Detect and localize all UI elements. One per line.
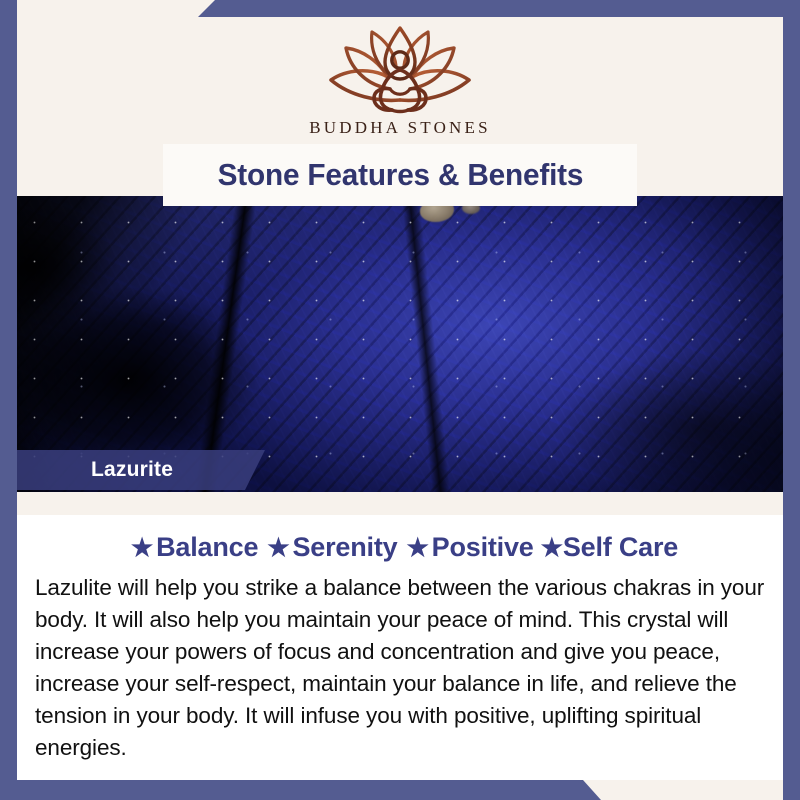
page-title-plaque: Stone Features & Benefits: [163, 144, 637, 206]
stone-photo: [0, 196, 800, 492]
frame-band-bottom: [0, 780, 800, 800]
feature-keyword-list: ★Balance★Serenity★Positive★Self Care: [17, 532, 783, 563]
feature-keyword-positive: Positive: [432, 532, 534, 563]
brand-name: BUDDHA STONES: [0, 118, 800, 138]
feature-keyword-balance: Balance: [156, 532, 258, 563]
star-icon-3: ★: [397, 534, 431, 562]
frame-band-right: [783, 0, 800, 800]
star-icon-4: ★: [534, 534, 563, 562]
stone-description: Lazulite will help you strike a balance …: [35, 572, 765, 764]
feature-keyword-serenity: Serenity: [293, 532, 398, 563]
brand-logo: BUDDHA STONES: [0, 22, 800, 138]
star-icon-1: ★: [122, 534, 156, 562]
star-icon-2: ★: [258, 534, 292, 562]
page-title: Stone Features & Benefits: [217, 157, 583, 193]
stone-name-tab: Lazurite: [17, 450, 265, 490]
frame-band-left: [0, 0, 17, 800]
stone-name-label: Lazurite: [91, 458, 173, 482]
lotus-meditation-icon: [316, 22, 484, 114]
stone-info-poster: BUDDHA STONES Stone Features & Benefits …: [0, 0, 800, 800]
feature-keyword-self-care: Self Care: [563, 532, 678, 563]
content-panel: ★Balance★Serenity★Positive★Self Care Laz…: [17, 515, 783, 780]
